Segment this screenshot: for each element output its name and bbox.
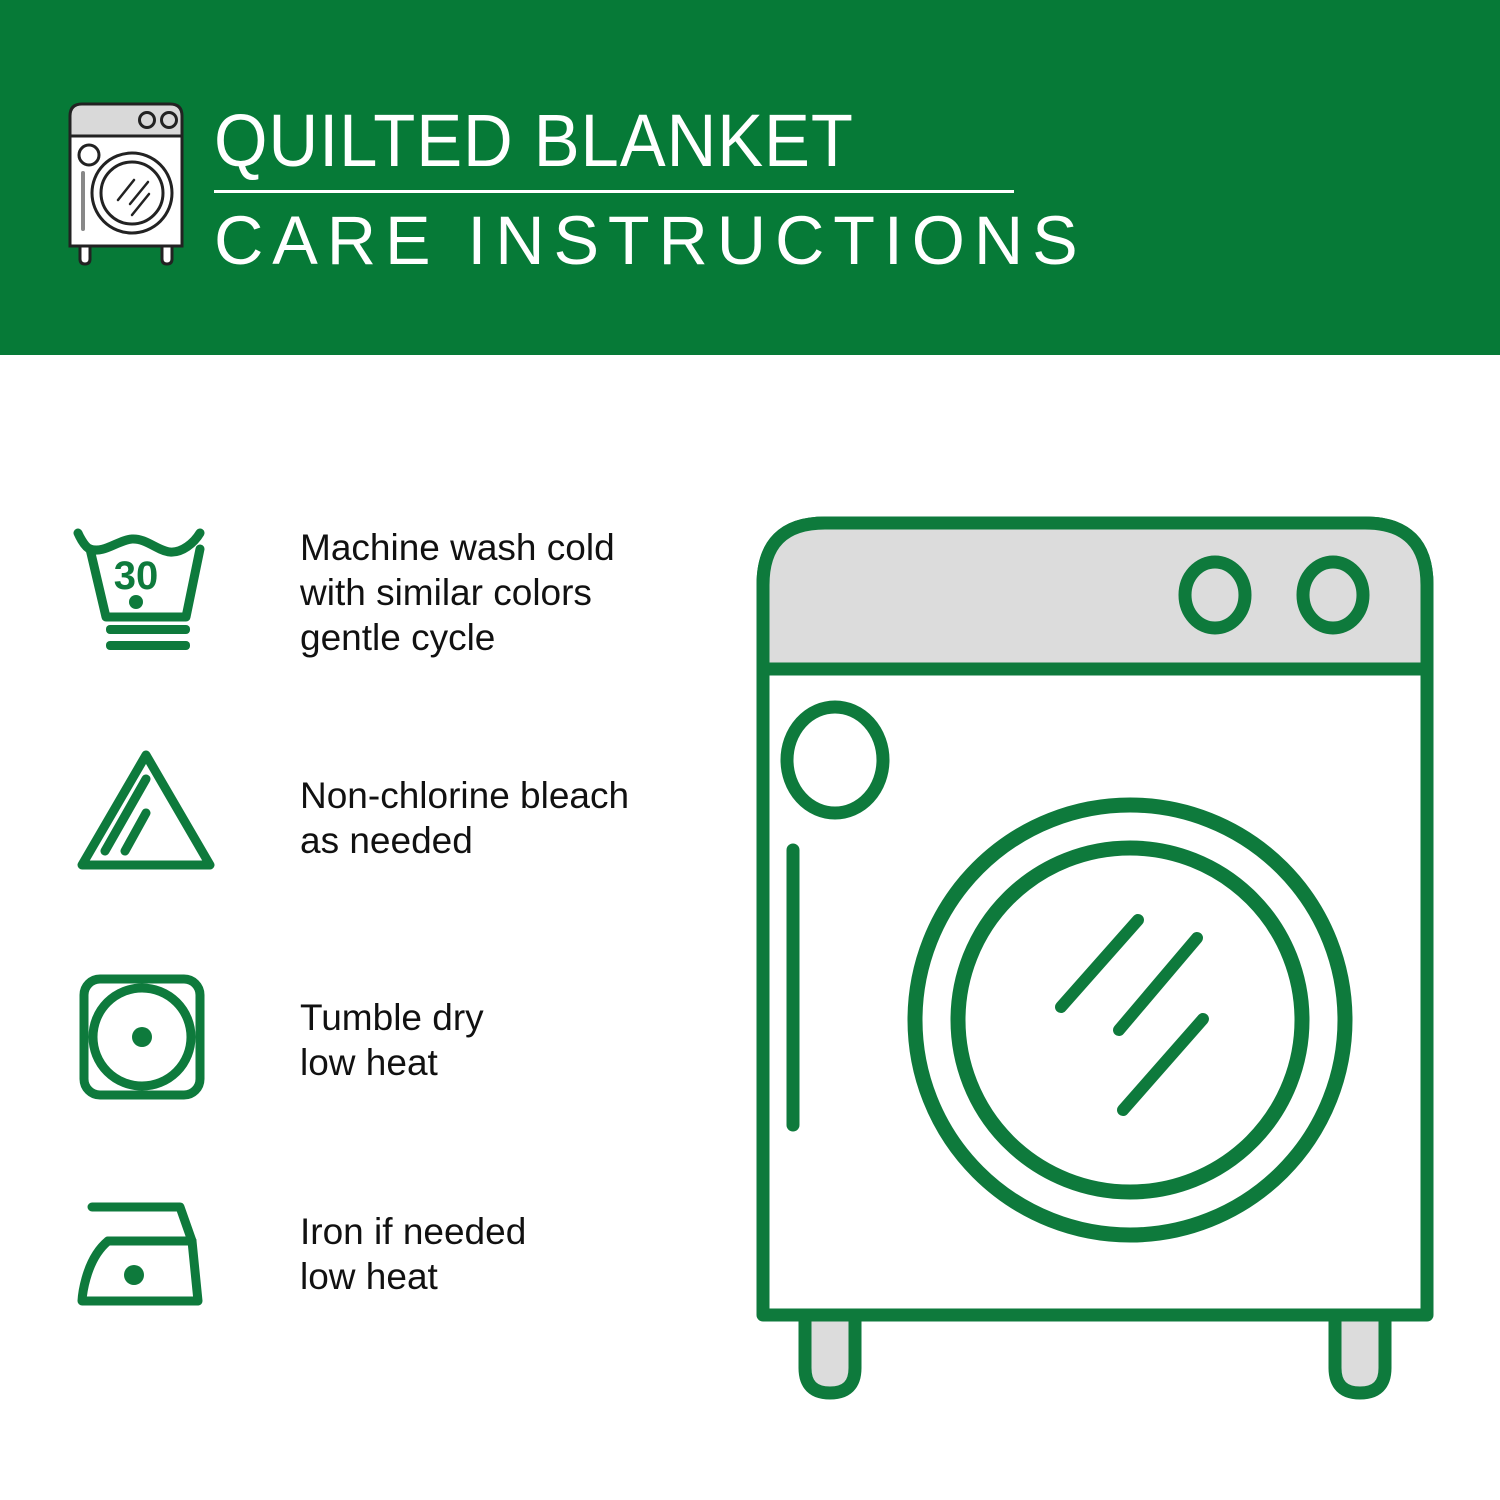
tumble-dry-low-heat-symbol bbox=[70, 953, 250, 1105]
non-chlorine-bleach-triangle-symbol bbox=[70, 729, 250, 881]
page-title: QUILTED BLANKET bbox=[214, 102, 1034, 180]
header-content: QUILTED BLANKET CARE INSTRUCTIONS bbox=[62, 98, 1095, 279]
care-item-iron-label: Iron if needed low heat bbox=[250, 1177, 526, 1299]
wash-temperature-value: 30 bbox=[114, 554, 159, 598]
care-item-tumble-dry-label: Tumble dry low heat bbox=[250, 953, 484, 1085]
care-line: Machine wash cold bbox=[300, 525, 615, 570]
care-line: as needed bbox=[300, 818, 629, 863]
front-load-washing-machine-illustration bbox=[745, 495, 1445, 1415]
care-item-machine-wash: 30 Machine wash cold with similar colors… bbox=[70, 505, 710, 729]
title-divider bbox=[214, 190, 1014, 193]
washing-machine-icon bbox=[62, 98, 194, 266]
care-item-machine-wash-label: Machine wash cold with similar colors ge… bbox=[250, 505, 615, 660]
care-line: low heat bbox=[300, 1040, 484, 1085]
care-line: low heat bbox=[300, 1254, 526, 1299]
care-item-bleach: Non-chlorine bleach as needed bbox=[70, 729, 710, 953]
care-line: Tumble dry bbox=[300, 995, 484, 1040]
iron-low-heat-symbol bbox=[70, 1177, 250, 1319]
header-banner: QUILTED BLANKET CARE INSTRUCTIONS bbox=[0, 0, 1500, 355]
care-item-bleach-label: Non-chlorine bleach as needed bbox=[250, 729, 629, 863]
care-item-iron: Iron if needed low heat bbox=[70, 1177, 710, 1401]
care-line: Iron if needed bbox=[300, 1209, 526, 1254]
title-block: QUILTED BLANKET CARE INSTRUCTIONS bbox=[214, 98, 1095, 279]
care-instruction-list: 30 Machine wash cold with similar colors… bbox=[70, 505, 710, 1401]
wash-tub-30-gentle-symbol: 30 bbox=[70, 505, 250, 657]
care-line: Non-chlorine bleach bbox=[300, 773, 629, 818]
page-subtitle: CARE INSTRUCTIONS bbox=[214, 203, 1087, 279]
care-item-tumble-dry: Tumble dry low heat bbox=[70, 953, 710, 1177]
care-line: with similar colors bbox=[300, 570, 615, 615]
care-line: gentle cycle bbox=[300, 615, 615, 660]
